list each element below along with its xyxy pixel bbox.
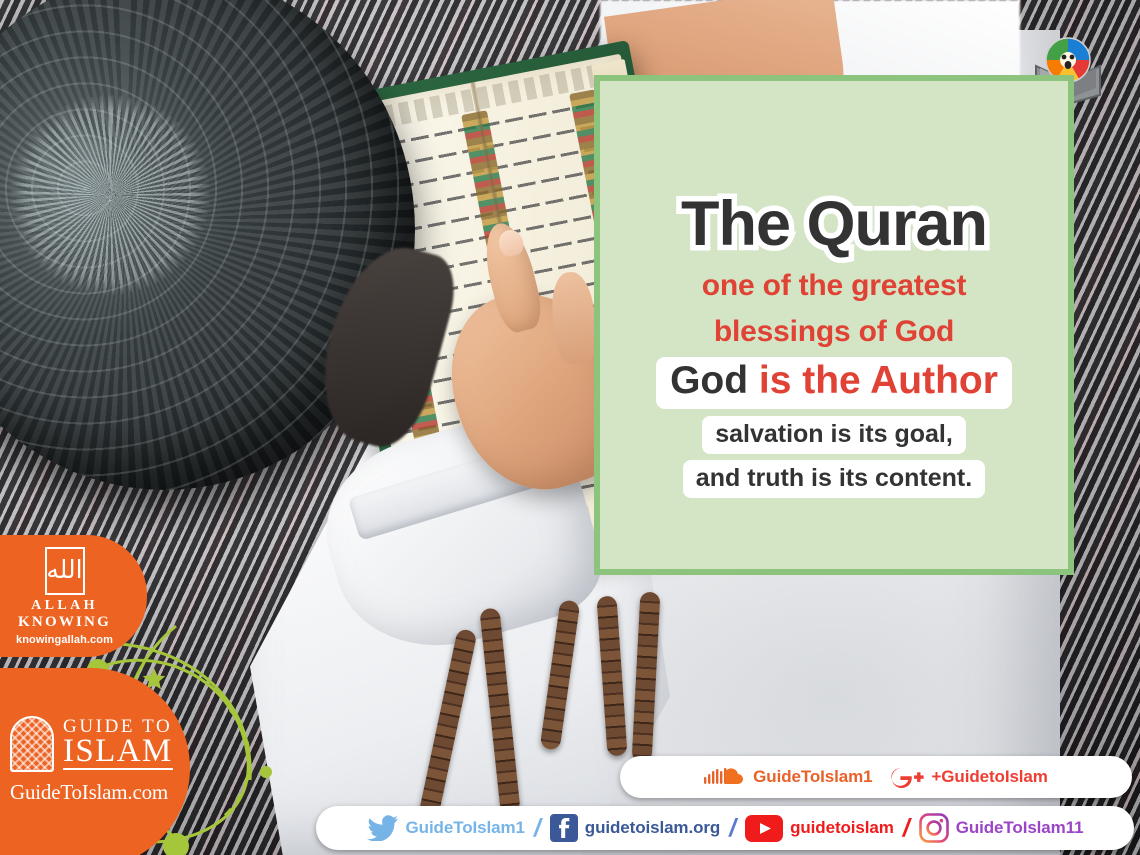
knowing-allah-line1: ALLAH [31, 599, 98, 613]
social-item-soundcloud[interactable]: GuideToIslam1 [704, 766, 872, 788]
google-plus-icon [888, 765, 924, 789]
youtube-handle: guidetoislam [790, 818, 894, 838]
bead-strand [479, 608, 520, 814]
poster-title: The Quran [594, 193, 1074, 256]
guide-to-islam-wordmark: GUIDE TO ISLAM [63, 718, 173, 771]
author-phrase: is the Author [759, 359, 998, 402]
instagram-handle: GuideToIslam11 [956, 818, 1084, 838]
googleplus-handle: +GuidetoIslam [931, 767, 1047, 787]
social-item-googleplus[interactable]: +GuidetoIslam [888, 765, 1047, 789]
bead-strand [632, 592, 661, 763]
callout-text-block: The Quran one of the greatest blessings … [594, 193, 1074, 504]
guide-to-islam-line2: ISLAM [63, 736, 173, 771]
mihrab-arch-icon [10, 716, 54, 772]
bead-strand [540, 599, 581, 750]
quote-callout-panel: The Quran one of the greatest blessings … [594, 75, 1074, 575]
poster-small-line2: and truth is its content. [594, 460, 1074, 498]
guide-to-islam-logo-row: GUIDE TO ISLAM [10, 716, 185, 772]
knowing-allah-badge[interactable]: الله ALLAH KNOWING knowingallah.com [0, 535, 147, 657]
twitter-handle: GuideToIslam1 [406, 818, 525, 838]
guide-to-islam-url[interactable]: GuideToIslam.com [10, 780, 185, 805]
social-item-facebook[interactable]: guidetoislam.org [550, 814, 720, 842]
social-item-youtube[interactable]: guidetoislam [745, 815, 894, 842]
poster-author-line: God is the Author [594, 357, 1074, 408]
soundcloud-icon [704, 766, 746, 788]
allah-calligraphy-icon: الله [45, 547, 85, 595]
prayer-cap-center-star [10, 95, 210, 295]
youtube-icon [745, 815, 783, 842]
separator: / [903, 814, 910, 843]
soundcloud-handle: GuideToIslam1 [753, 767, 872, 787]
social-item-instagram[interactable]: GuideToIslam11 [919, 813, 1084, 843]
social-item-twitter[interactable]: GuideToIslam1 [367, 815, 525, 841]
poster-subtitle-line1: one of the greatest [594, 266, 1074, 306]
facebook-handle: guidetoislam.org [585, 818, 720, 838]
poster-canvas: The Quran one of the greatest blessings … [0, 0, 1140, 855]
author-chip: God is the Author [656, 357, 1012, 408]
author-word-god: God [670, 359, 748, 402]
twitter-icon [367, 815, 399, 841]
separator: / [534, 814, 541, 843]
facebook-icon [550, 814, 578, 842]
knowing-allah-line2: KNOWING [18, 613, 111, 631]
guide-to-islam-content: GUIDE TO ISLAM GuideToIslam.com [10, 716, 185, 805]
social-bar-top: GuideToIslam1 +GuidetoIslam [620, 756, 1132, 798]
separator: / [729, 814, 736, 843]
poster-small-line1: salvation is its goal, [594, 416, 1074, 454]
social-bar-bottom: GuideToIslam1 / guidetoislam.org / guide… [316, 806, 1134, 850]
poster-subtitle-line2: blessings of God [594, 312, 1074, 352]
instagram-icon [919, 813, 949, 843]
knowing-allah-url[interactable]: knowingallah.com [16, 634, 113, 646]
bead-strand [596, 595, 627, 756]
